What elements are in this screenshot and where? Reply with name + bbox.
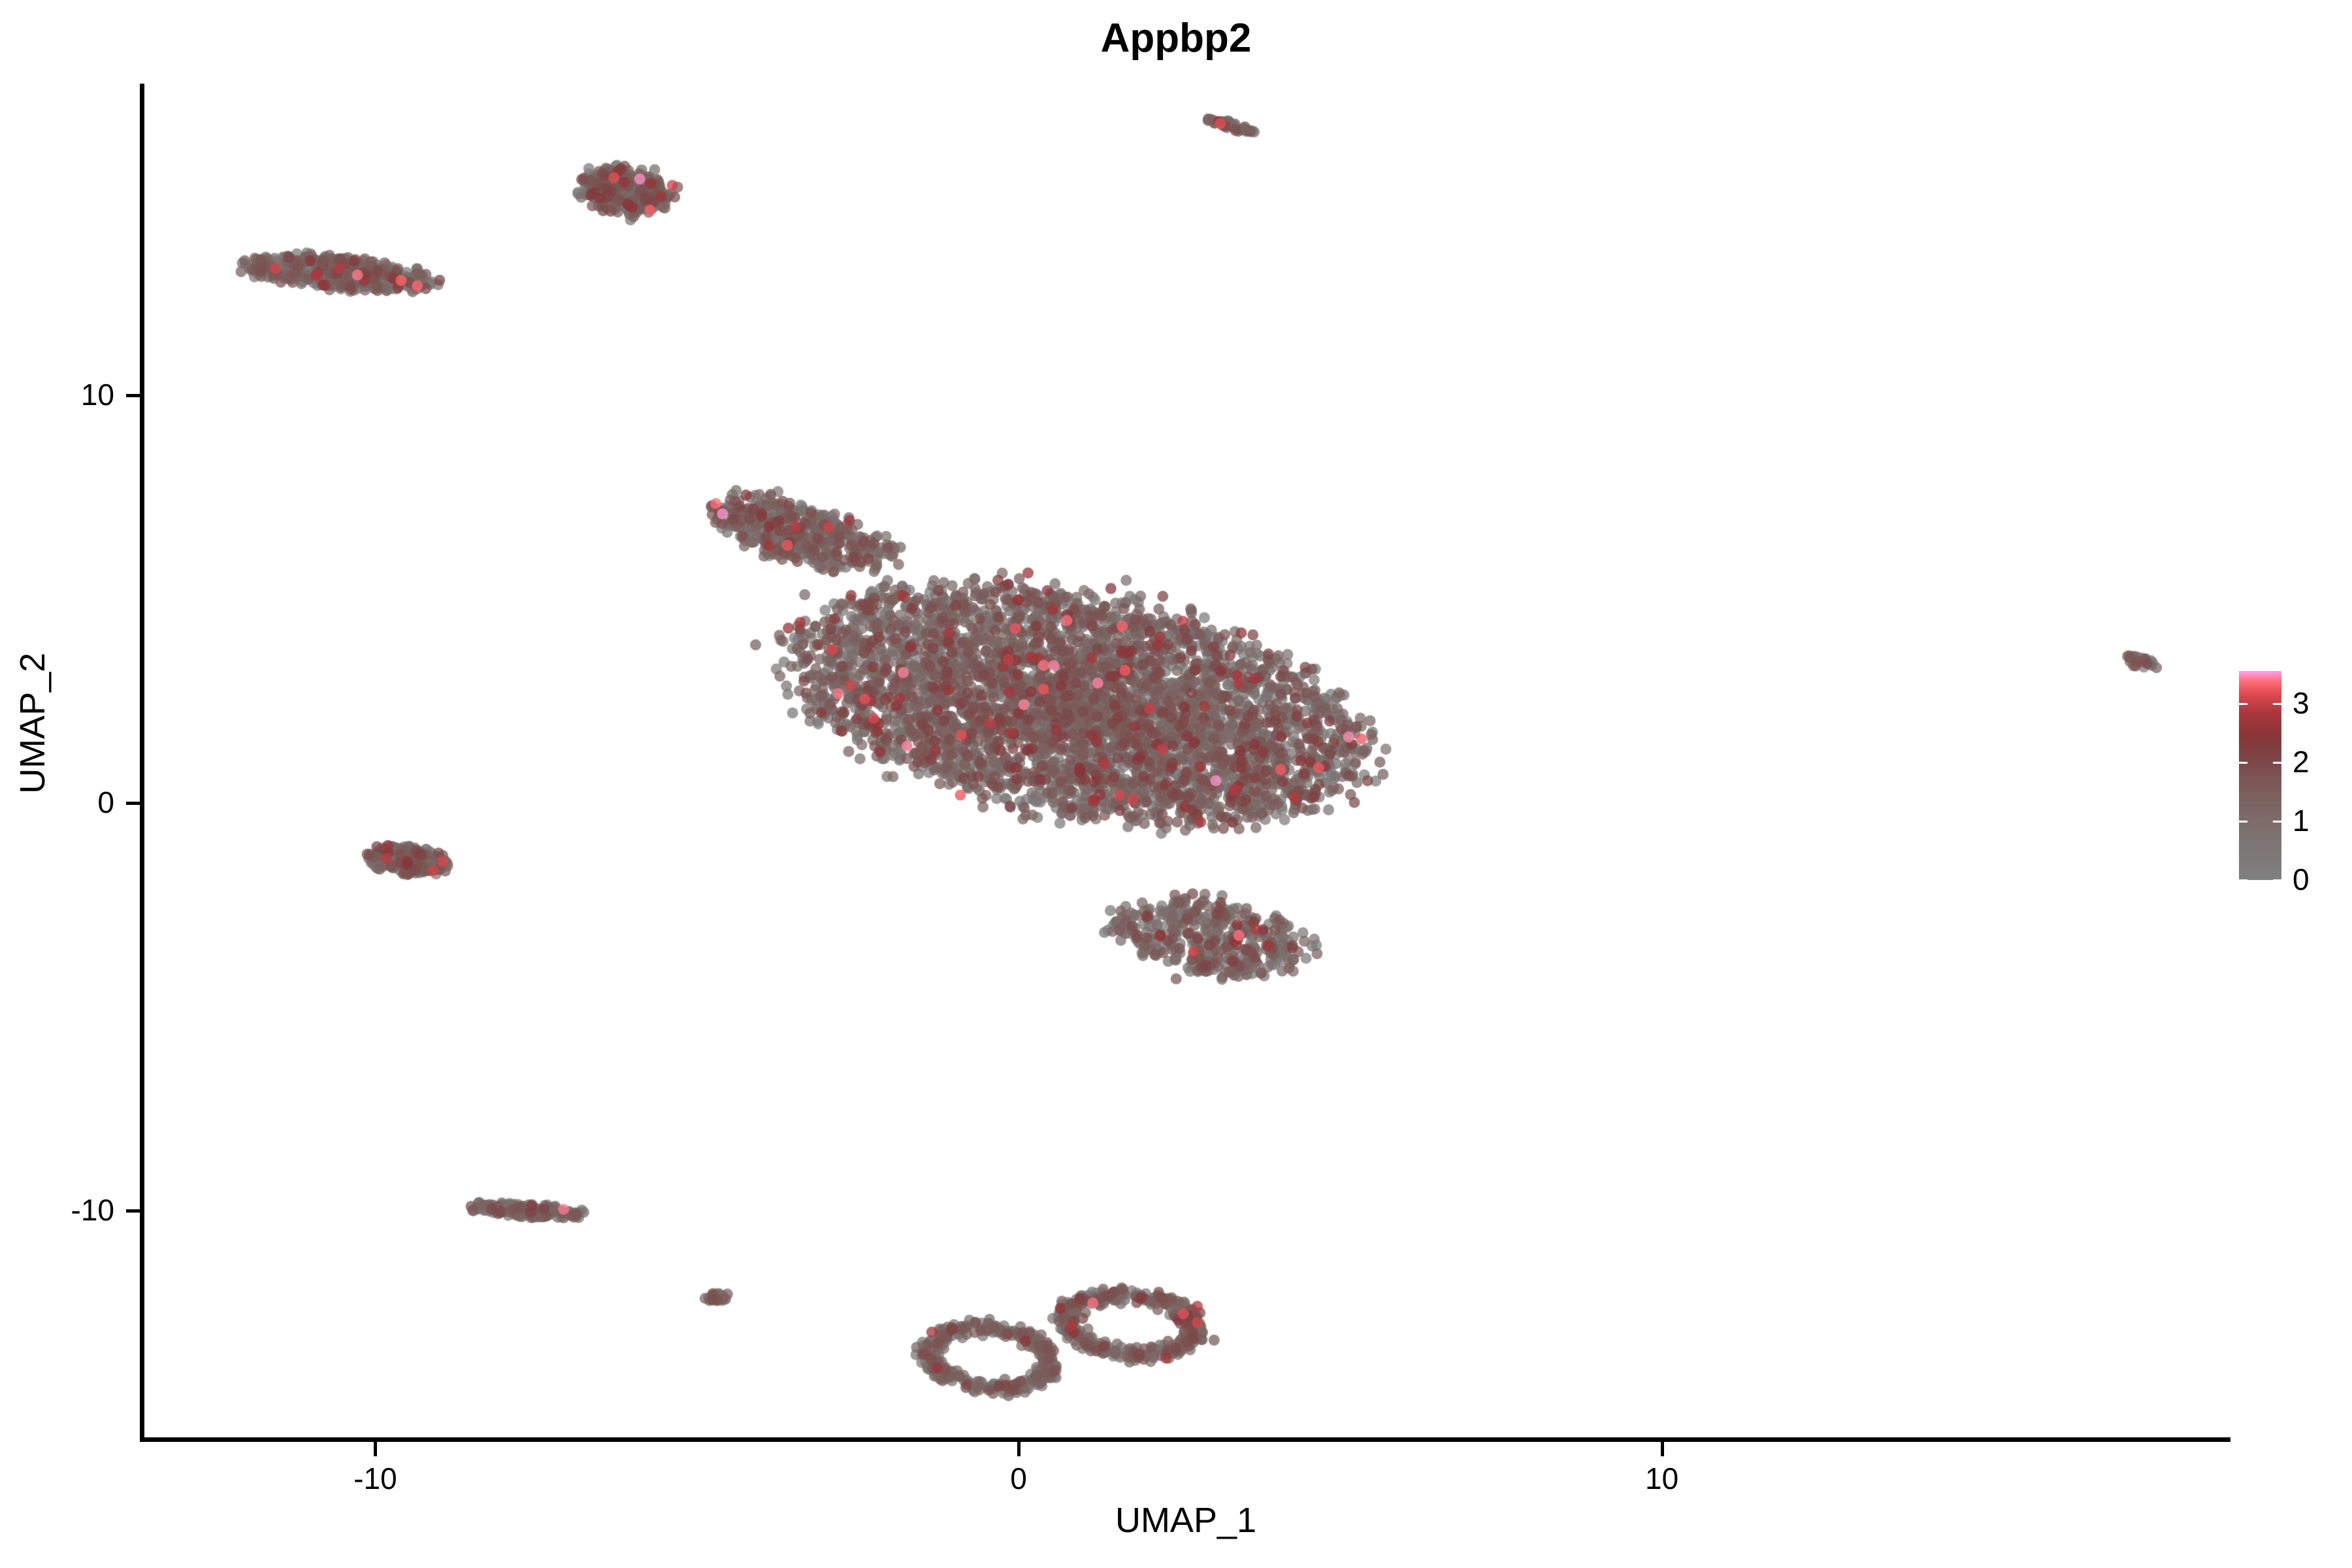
- colorbar-tick-mark: [2273, 821, 2281, 823]
- y-tick-mark: [126, 1209, 140, 1213]
- x-tick-label: 10: [1584, 1463, 1740, 1494]
- colorbar-legend: 3210: [2239, 671, 2344, 887]
- y-tick-label: 10: [0, 380, 114, 410]
- x-tick-mark: [1017, 1442, 1021, 1456]
- colorbar-tick-mark: [2239, 879, 2247, 881]
- colorbar-tick-mark: [2273, 703, 2281, 705]
- x-axis-line: [140, 1437, 2230, 1442]
- x-axis-title: UMAP_1: [144, 1503, 2228, 1538]
- colorbar-label: 1: [2293, 806, 2310, 836]
- colorbar-label: 3: [2293, 688, 2310, 718]
- chart-root: Appbp2 100-10 -10010 UMAP_1 UMAP_2 3210: [0, 0, 2352, 1568]
- x-tick-label: 0: [940, 1463, 1097, 1494]
- colorbar-tick-mark: [2239, 821, 2247, 823]
- x-tick-label: -10: [297, 1463, 453, 1494]
- colorbar-tick-mark: [2239, 762, 2247, 764]
- y-tick-label: -10: [0, 1195, 114, 1225]
- y-tick-mark: [126, 394, 140, 397]
- y-tick-mark: [126, 802, 140, 805]
- colorbar-tick-mark: [2273, 762, 2281, 764]
- colorbar-tick-mark: [2239, 703, 2247, 705]
- scatter-points-layer: [144, 85, 2228, 1439]
- x-tick-mark: [374, 1442, 377, 1456]
- plot-panel: [144, 85, 2228, 1439]
- colorbar-tick-mark: [2273, 879, 2281, 881]
- y-axis-line: [140, 84, 144, 1442]
- page-title: Appbp2: [0, 18, 2352, 59]
- colorbar-label: 0: [2293, 864, 2310, 894]
- y-axis-title: UMAP_2: [15, 462, 50, 985]
- x-tick-mark: [1661, 1442, 1664, 1456]
- colorbar-label: 2: [2293, 747, 2310, 777]
